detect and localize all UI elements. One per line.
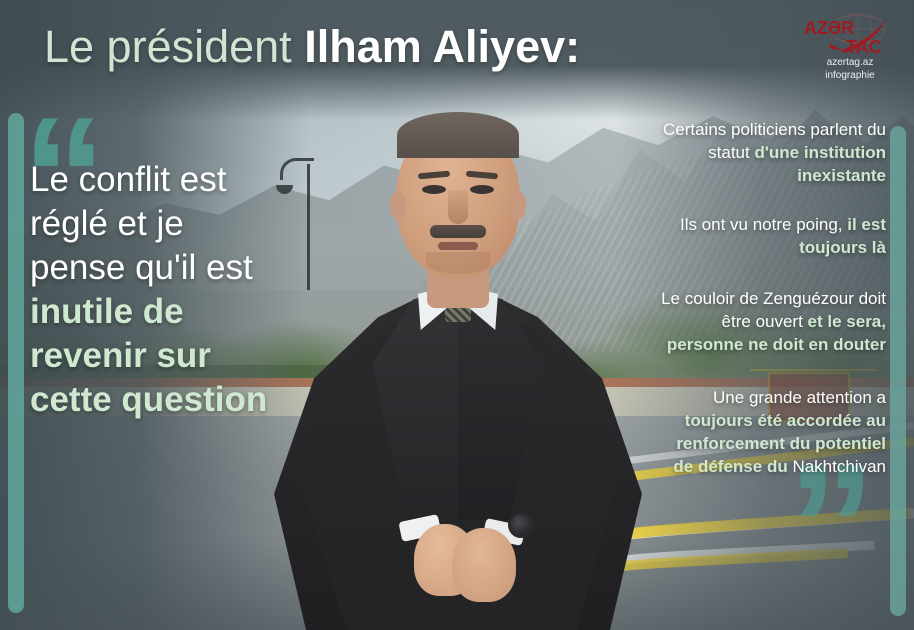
logo-site-text: azertag.az [802, 57, 898, 69]
president-portrait [258, 70, 658, 630]
statement-column: Certains politiciens parlent du statut d… [654, 118, 886, 500]
hand-right [452, 528, 516, 602]
main-quote-plain: Le conflit est réglé et je pense qu'il e… [30, 160, 253, 287]
ear-left [390, 190, 406, 220]
eye-left [422, 185, 446, 194]
statement-block-2: Ils ont vu notre poing, il est toujours … [654, 213, 886, 259]
statement-1-emphasis: d'une institution inexistante [754, 143, 886, 185]
chin-shadow [426, 252, 490, 274]
ear-right [510, 190, 526, 220]
page-title-name: Ilham Aliyev: [304, 21, 580, 72]
wristwatch [508, 512, 534, 538]
statement-block-3: Le couloir de Zenguézour doit être ouver… [654, 287, 886, 356]
main-quote: Le conflit est réglé et je pense qu'il e… [30, 158, 280, 422]
nose [448, 190, 468, 224]
main-quote-emphasis: inutile de revenir sur cette question [30, 292, 267, 419]
statement-2-plain: Ils ont vu notre poing, [680, 215, 847, 234]
azertac-logo[interactable]: AZƏR TAC azertag.az infographie [802, 12, 898, 84]
hair [397, 112, 519, 158]
logo-section-text: infographie [802, 70, 898, 82]
azertac-logo-mark: AZƏR TAC [802, 12, 898, 56]
svg-text:TAC: TAC [846, 37, 882, 56]
statement-4-tail: Nakhtchivan [792, 457, 886, 476]
statement-block-1: Certains politiciens parlent du statut d… [654, 118, 886, 187]
moustache [430, 225, 486, 238]
statement-block-4: Une grande attention a toujours été acco… [654, 386, 886, 478]
statement-4-plain: Une grande attention a [713, 388, 886, 407]
page-title-prefix: Le président [44, 21, 304, 72]
page-title: Le président Ilham Aliyev: [44, 23, 580, 70]
azertac-globe-swoosh-icon: AZƏR TAC [802, 12, 898, 56]
eye-right [470, 185, 494, 194]
mouth [438, 242, 478, 250]
accent-bar-right [890, 126, 906, 616]
infographic-poster: “ ” Le président Ilham Aliyev: AZƏR TAC [0, 0, 914, 630]
svg-text:AZƏR: AZƏR [804, 18, 854, 38]
